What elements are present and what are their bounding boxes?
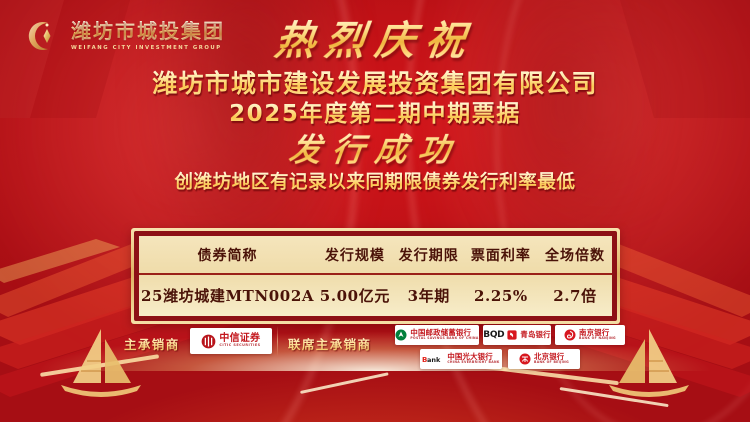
svg-text:ank: ank	[427, 356, 441, 364]
lead-underwriter-label: 主承销商	[124, 334, 180, 353]
citic-logo-icon	[201, 334, 216, 349]
sponsor-name-en: BANK OF NANJING	[579, 337, 616, 340]
beijing-bank-logo-icon	[519, 353, 531, 365]
column-header-subscription-multiple: 全场倍数	[538, 236, 612, 274]
sponsor-logo-bank-of-qingdao: BQD 青岛银行	[483, 325, 551, 345]
bqd-logo-icon	[507, 330, 517, 340]
psbc-logo-icon	[395, 329, 407, 341]
cell-subscription-multiple: 2.7倍	[538, 274, 612, 316]
joint-underwriter-label: 联席主承销商	[288, 334, 371, 353]
cell-coupon-rate: 2.25%	[464, 274, 538, 316]
sponsor-logo-bank-of-beijing: 北京银行 BANK OF BEIJING	[508, 349, 580, 369]
sponsor-name-en: POSTAL SAVINGS BANK OF CHINA	[410, 337, 478, 340]
bond-table-frame: 债券简称 发行规模 发行期限 票面利率 全场倍数 25潍坊城建MTN002A 5…	[131, 228, 620, 324]
success-headline: 发行成功	[287, 132, 464, 169]
sponsor-divider	[277, 326, 278, 356]
nanjing-rose-icon	[564, 329, 576, 341]
cell-tenor: 3年期	[394, 274, 464, 316]
sponsor-logo-china-everbright-bank: B ank 中国光大银行 CHINA EVERBRIGHT BANK	[420, 349, 502, 369]
cell-issue-size: 5.00亿元	[316, 274, 394, 316]
company-name-title: 潍坊市城市建设发展投资集团有限公司	[0, 68, 750, 100]
sponsor-name-cn: 青岛银行	[520, 331, 550, 339]
sponsor-logo-psbc: 中国邮政储蓄银行 POSTAL SAVINGS BANK OF CHINA	[395, 325, 479, 345]
table-header-row: 债券简称 发行规模 发行期限 票面利率 全场倍数	[139, 236, 612, 274]
column-header-bond-name: 债券简称	[139, 236, 316, 274]
sponsor-name-en: BQD	[483, 330, 504, 340]
sponsor-name-en: CITIC SECURITIES	[219, 344, 260, 348]
achievement-subtitle: 创潍坊地区有记录以来同期限债券发行利率最低	[0, 171, 750, 195]
bond-details-table: 债券简称 发行规模 发行期限 票面利率 全场倍数 25潍坊城建MTN002A 5…	[139, 236, 612, 316]
sponsor-name-en: BANK OF BEIJING	[534, 361, 569, 364]
celebration-poster: 潍坊市城投集团 WEIFANG CITY INVESTMENT GROUP 热烈…	[0, 0, 750, 422]
table-row: 25潍坊城建MTN002A 5.00亿元 3年期 2.25% 2.7倍	[139, 274, 612, 316]
headline-block: 热烈庆祝 潍坊市城市建设发展投资集团有限公司 2025年度第二期中期票据 发行成…	[0, 18, 750, 195]
sponsor-logo-bank-of-nanjing: 南京银行 BANK OF NANJING	[555, 325, 625, 345]
celebrate-headline: 热烈庆祝	[272, 18, 478, 64]
column-header-tenor: 发行期限	[394, 236, 464, 274]
sponsors-section: 主承销商 联席主承销商 中信证券 CITIC SECURITIES	[0, 320, 750, 382]
column-header-coupon-rate: 票面利率	[464, 236, 538, 274]
issue-name-title: 2025年度第二期中期票据	[0, 100, 750, 130]
cell-bond-name: 25潍坊城建MTN002A	[139, 274, 316, 316]
everbright-logo-icon: B ank	[422, 354, 444, 365]
sponsor-logo-citic: 中信证券 CITIC SECURITIES	[190, 328, 272, 354]
sponsor-name-en: CHINA EVERBRIGHT BANK	[447, 361, 499, 364]
column-header-issue-size: 发行规模	[316, 236, 394, 274]
